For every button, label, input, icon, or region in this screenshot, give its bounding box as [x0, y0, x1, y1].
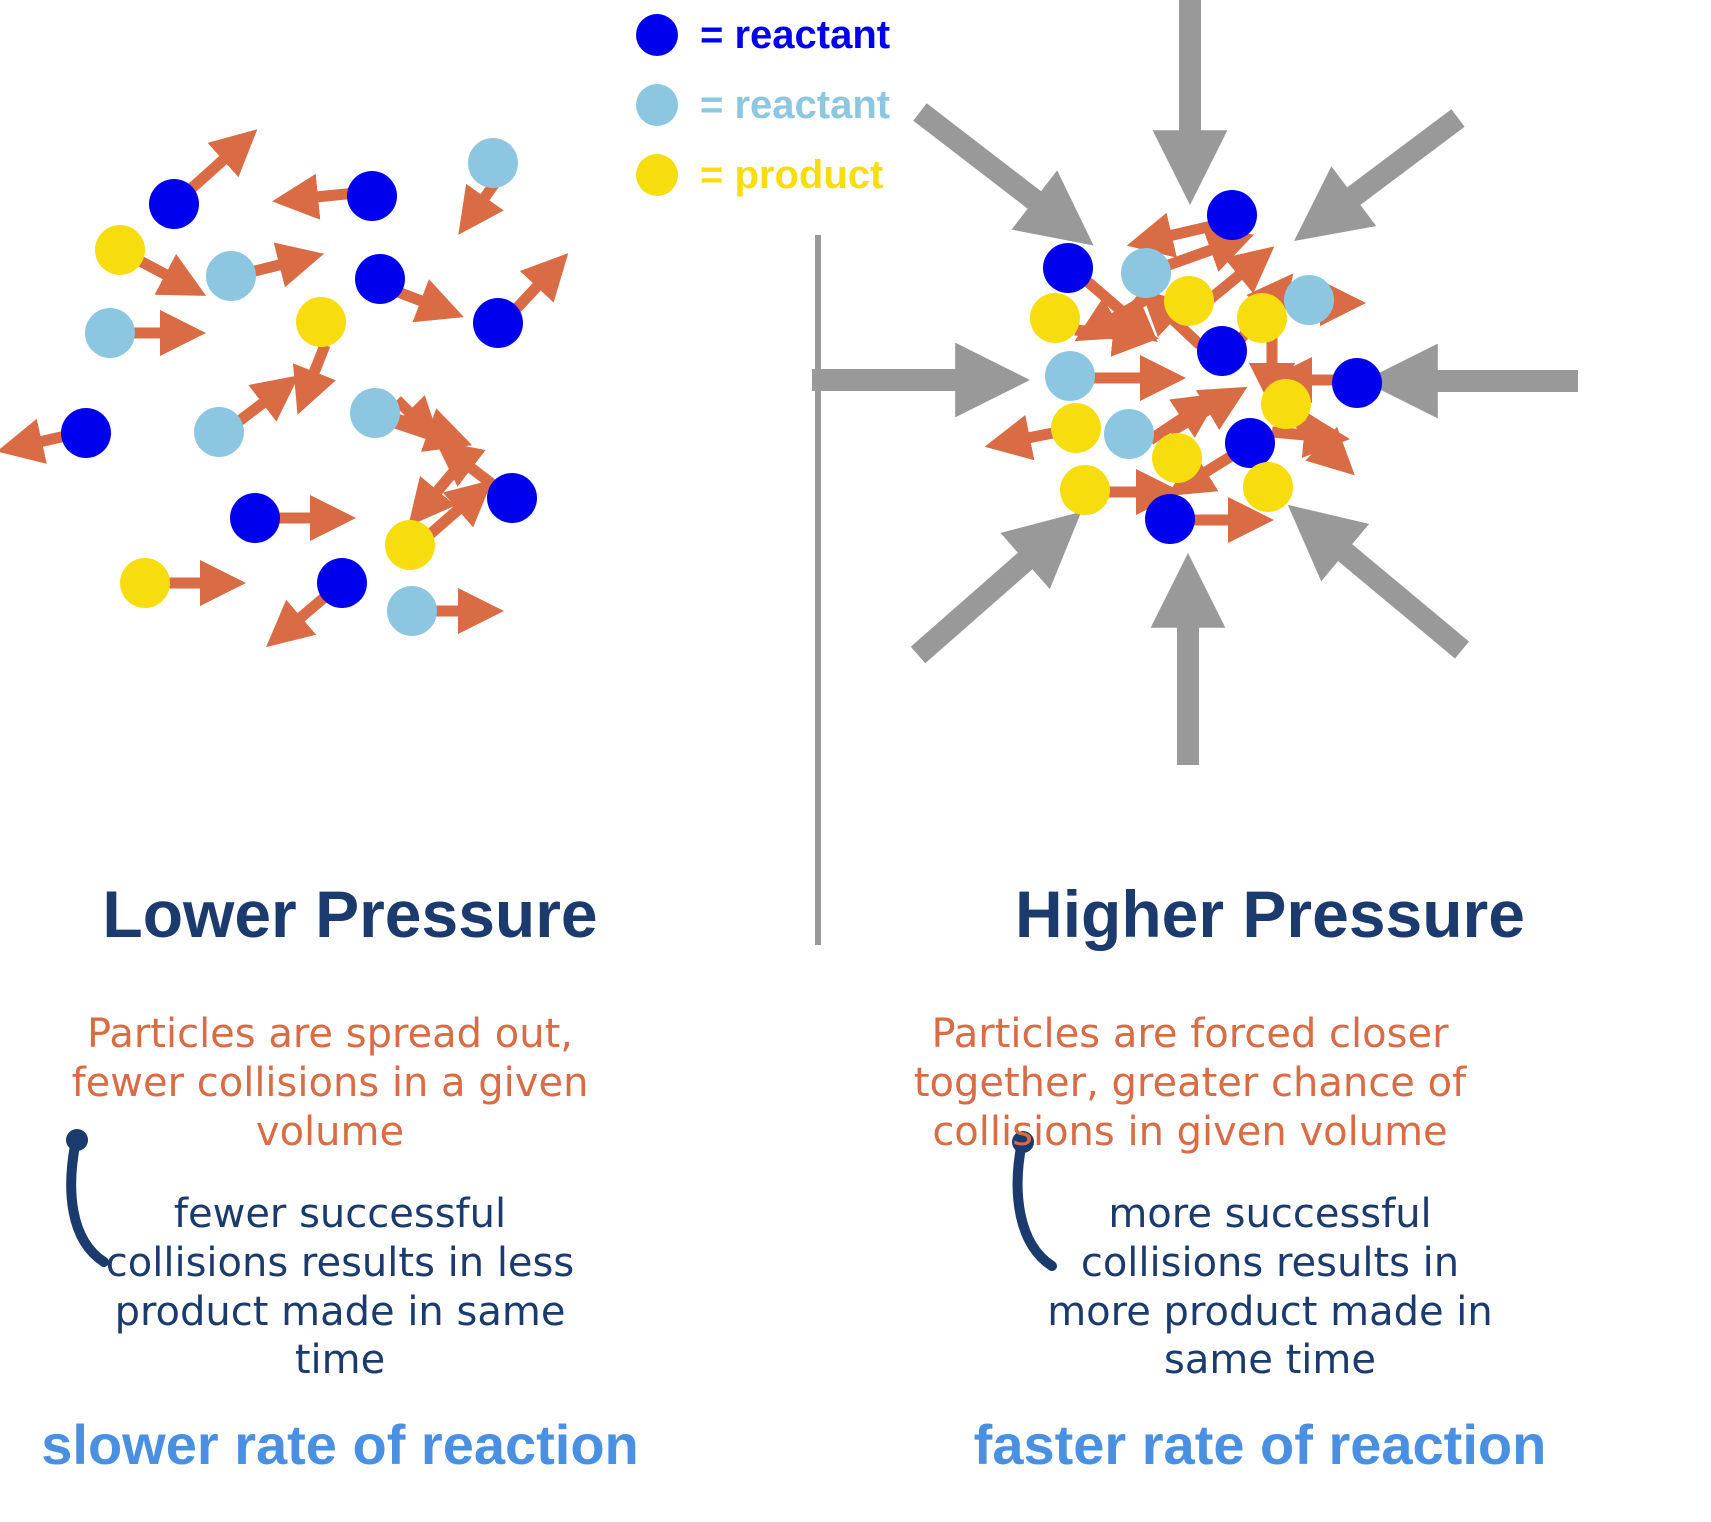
left-panel-particles	[61, 138, 537, 636]
particle-product	[1243, 462, 1293, 512]
left-rate-text: slower rate of reaction	[0, 1412, 680, 1477]
right-consequence-text: more successful collisions results in mo…	[1040, 1190, 1500, 1385]
particle-reactant-light	[1104, 409, 1154, 459]
particle-product	[1030, 293, 1080, 343]
left-motion-arrows	[30, 152, 545, 625]
particle-reactant-light	[1284, 275, 1334, 325]
left-panel-title: Lower Pressure	[0, 876, 700, 952]
left-explanation-text: Particles are spread out, fewer collisio…	[30, 1010, 630, 1156]
pressure-arrow-top-left	[920, 112, 1050, 212]
right-explanation-text: Particles are forced closer together, gr…	[880, 1010, 1500, 1156]
particle-reactant-dark	[347, 171, 397, 221]
particle-reactant-dark	[1207, 190, 1257, 240]
pressure-arrow-bottom-left	[918, 548, 1040, 655]
particle-product	[1152, 433, 1202, 483]
particle-product	[1060, 465, 1110, 515]
particle-reactant-light	[194, 407, 244, 457]
particle-reactant-dark	[355, 254, 405, 304]
particle-reactant-light	[350, 388, 400, 438]
particle-product	[1261, 379, 1311, 429]
left-consequence-text: fewer successful collisions results in l…	[90, 1190, 590, 1385]
particle-reactant-dark	[487, 473, 537, 523]
particle-product	[1237, 293, 1287, 343]
particle-reactant-dark	[149, 179, 199, 229]
particle-reactant-dark	[473, 298, 523, 348]
particle-reactant-dark	[1145, 494, 1195, 544]
particle-reactant-dark	[1043, 243, 1093, 293]
particle-reactant-light	[387, 586, 437, 636]
pressure-arrows	[812, 0, 1578, 765]
right-panel-title: Higher Pressure	[920, 876, 1620, 952]
particle-reactant-light	[1121, 248, 1171, 298]
particle-reactant-dark	[1225, 418, 1275, 468]
diagram-canvas: = reactant = reactant = product	[0, 0, 1711, 1522]
right-panel-particles	[1030, 190, 1382, 544]
particle-product	[95, 225, 145, 275]
particle-reactant-dark	[317, 558, 367, 608]
particle-product	[1164, 276, 1214, 326]
pressure-arrow-bottom-right	[1330, 540, 1462, 650]
particle-reactant-light	[468, 138, 518, 188]
right-rate-text: faster rate of reaction	[920, 1412, 1600, 1477]
particle-reactant-dark	[1332, 358, 1382, 408]
particle-product	[120, 558, 170, 608]
pressure-arrow-top-right	[1338, 118, 1458, 208]
particle-reactant-dark	[1197, 326, 1247, 376]
particle-reactant-light	[85, 308, 135, 358]
particle-reactant-light	[206, 251, 256, 301]
particle-reactant-dark	[230, 493, 280, 543]
particle-reactant-light	[1045, 351, 1095, 401]
particle-product	[385, 520, 435, 570]
particle-product	[296, 297, 346, 347]
particle-reactant-dark	[61, 408, 111, 458]
particle-product	[1051, 403, 1101, 453]
